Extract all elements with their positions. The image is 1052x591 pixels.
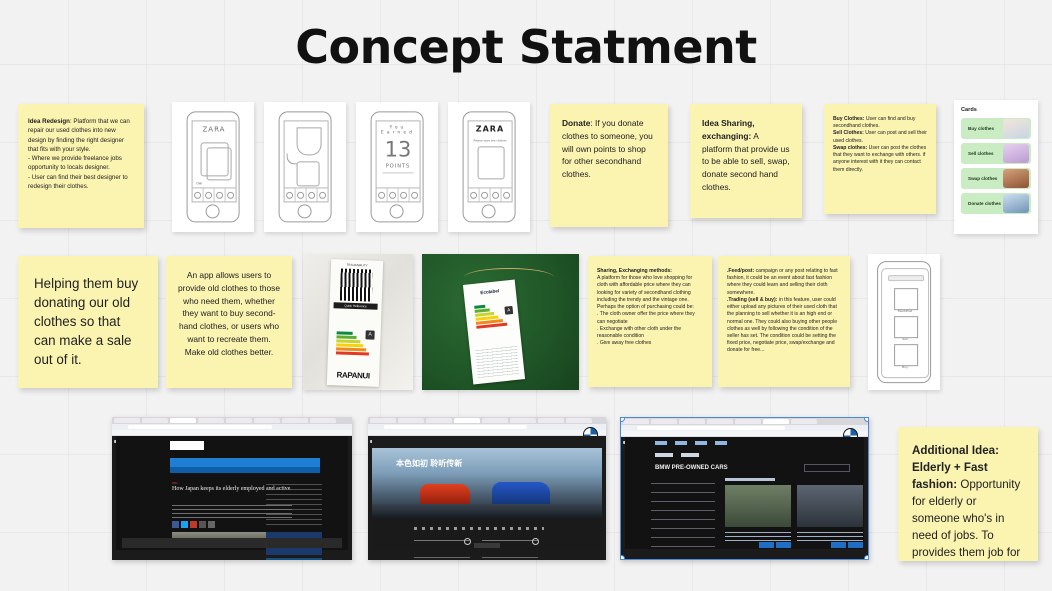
trading-bold: .Trading (sell & buy): <box>727 297 777 303</box>
browser-tab[interactable] <box>510 418 536 423</box>
note-buy-sell-swap[interactable]: Buy Clothes: User can find and buy secon… <box>824 104 936 214</box>
sketch-navbar <box>284 187 328 202</box>
car-listing-meta <box>797 529 863 541</box>
car-red <box>420 484 470 506</box>
social-share-row[interactable] <box>172 521 215 528</box>
sketch-navbar <box>376 187 420 202</box>
filter-alphabet-row[interactable] <box>414 527 544 530</box>
note-donate[interactable]: Donate: If you donate clothes to someone… <box>550 104 668 227</box>
site-subnav-bar[interactable] <box>170 467 320 473</box>
browser-tab[interactable] <box>114 418 140 423</box>
rating-grade-badge: A <box>365 330 374 339</box>
browser-tab[interactable] <box>566 418 592 423</box>
search-bar-sketch <box>888 276 925 282</box>
browser-tab[interactable] <box>707 419 733 424</box>
nav-icon-4 <box>502 188 512 202</box>
card-label: Sell clothes <box>961 151 994 156</box>
browser-tab[interactable] <box>623 419 649 424</box>
browser-tab[interactable] <box>426 418 452 423</box>
nav-icon-3 <box>490 188 501 202</box>
photo-green-tshirt-ecolabel[interactable]: Ecolabel A <box>422 254 579 390</box>
card-thumb-swap <box>1003 169 1029 188</box>
power-slider-handle[interactable] <box>532 538 539 545</box>
ecolabel-hangtag: Ecolabel A <box>463 280 525 385</box>
sketch-screen-label: ZARA <box>468 124 512 133</box>
sketch-wireframe-feed[interactable]: Feed/Post Sell Buy <box>868 254 940 390</box>
card-row-buy[interactable]: Buy clothes <box>961 118 1031 139</box>
messenger-icon[interactable] <box>208 521 215 528</box>
tag-subtitle: Quick Reference <box>334 302 378 310</box>
note-idea-redesign-bullet-1: - User can find their best designer to r… <box>28 173 134 192</box>
cards-panel[interactable]: Cards Buy clothes Sell clothes Swap clot… <box>954 100 1038 234</box>
phone-frame <box>279 111 332 222</box>
wireframe-block-sell <box>894 317 918 338</box>
screenshot-bmw-china-home[interactable]: 本色如初 聆听传新 <box>368 417 606 560</box>
note-helping-body: Helping them buy donating our old clothe… <box>34 274 142 369</box>
selection-handle-br[interactable] <box>864 555 869 560</box>
people-illustration <box>382 173 413 187</box>
car-listing-meta <box>725 529 791 541</box>
selection-handle-bl[interactable] <box>620 555 625 560</box>
tshirt-sketch <box>478 147 504 180</box>
phone-frame: ZARA Owl <box>187 111 240 222</box>
filter-panel[interactable] <box>372 518 602 550</box>
skirt-sketch <box>296 128 322 156</box>
nav-icon-1 <box>468 188 479 202</box>
site-nav[interactable] <box>655 441 735 445</box>
nav-icon-3 <box>214 188 225 202</box>
buy-clothes-bold: Buy Clothes: <box>833 116 864 122</box>
note-sharing-exchanging-methods[interactable]: Sharing, Exchanging methods: A platform … <box>588 256 712 387</box>
car-listing-card[interactable] <box>797 485 863 527</box>
sharing-methods-body: A platform for those who love shopping f… <box>597 275 703 311</box>
sketch-navbar <box>192 187 236 202</box>
browser-tab[interactable] <box>651 419 677 424</box>
sketch-sub-label: Please save the clothes <box>468 138 512 142</box>
home-button-icon <box>390 204 404 218</box>
facebook-icon[interactable] <box>172 521 179 528</box>
browser-tab[interactable] <box>735 419 761 424</box>
phone-frame: You Earned 13 POINTS <box>371 111 424 222</box>
card-row-donate[interactable]: Donate clothes <box>961 193 1031 214</box>
nav-icon-4 <box>410 188 420 202</box>
details-button[interactable] <box>848 542 863 548</box>
nav-icon-1 <box>376 188 387 202</box>
submit-button[interactable] <box>474 543 500 548</box>
wireframe-label-sell: Sell <box>882 337 928 341</box>
rating-grade-badge: A <box>504 306 513 315</box>
browser-tab-active[interactable] <box>763 419 789 424</box>
hangtag-brand: Ecolabel <box>464 287 516 297</box>
sketch-screen-label: ZARA <box>192 125 236 133</box>
tshirt-sketch <box>296 161 319 186</box>
nav-icon-4 <box>318 188 328 202</box>
home-button-icon <box>482 204 496 218</box>
points-number: 13 <box>376 137 420 161</box>
browser-tab[interactable] <box>398 418 424 423</box>
rating-a <box>337 331 353 335</box>
photo-rapanui-tag[interactable]: TRACEABILITY Quick Reference A RAPANUI <box>303 254 413 390</box>
nav-icon-1 <box>284 188 295 202</box>
nav-icon-2 <box>203 188 214 202</box>
power-slider[interactable] <box>482 540 538 541</box>
phone-screen: ZARA Please save the clothes <box>467 120 513 203</box>
browser-tab[interactable] <box>482 418 508 423</box>
browser-tab[interactable] <box>282 418 308 423</box>
nav-icon-2 <box>387 188 398 202</box>
enquire-button[interactable] <box>831 542 846 548</box>
card-row-swap[interactable]: Swap clothes <box>961 168 1031 189</box>
url-field[interactable] <box>384 425 527 429</box>
browser-tab[interactable] <box>370 418 396 423</box>
cards-panel-title: Cards <box>961 107 1031 113</box>
note-idea-redesign-bullet-0: - Where we provide freelance jobs opport… <box>28 154 134 173</box>
browser-tab[interactable] <box>679 419 705 424</box>
sketch-points-earned[interactable]: You Earned 13 POINTS <box>356 102 438 232</box>
nav-icon-1 <box>192 188 203 202</box>
browser-tab[interactable] <box>538 418 564 423</box>
swap-arrow-icon <box>287 153 298 164</box>
note-idea-sharing-bold: Idea Sharing, exchanging: <box>702 118 755 141</box>
card-label: Donate clothes <box>961 201 1001 206</box>
twitter-promo-card[interactable] <box>266 558 322 560</box>
filter-sidebar[interactable] <box>651 481 715 547</box>
browser-tab[interactable] <box>142 418 168 423</box>
nav-icon-3 <box>306 188 317 202</box>
sort-select[interactable] <box>804 464 850 472</box>
sketch-sub-label: Owl <box>192 182 240 186</box>
note-donate-bold: Donate <box>562 118 590 128</box>
url-field[interactable] <box>128 425 272 429</box>
nav-icon-3 <box>398 188 409 202</box>
clothing-tag: TRACEABILITY Quick Reference A RAPANUI <box>327 259 383 387</box>
browser-tabs[interactable] <box>370 418 592 423</box>
details-button[interactable] <box>776 542 791 548</box>
site-header-nav[interactable] <box>372 436 602 448</box>
article-sidebar-meta <box>266 481 322 525</box>
swap-clothes-bold: Swap clothes: <box>833 145 867 151</box>
page-title: Concept Statment <box>0 20 1052 74</box>
cookie-banner[interactable] <box>122 538 342 548</box>
tshirt-sketch-back <box>207 148 232 181</box>
sell-clothes-bold: Sell Clothes: <box>833 130 864 136</box>
email-icon[interactable] <box>190 521 197 528</box>
tag-brand: RAPANUI <box>327 370 379 381</box>
hangtag-fineprint <box>475 346 520 378</box>
article-page: BBC How Japan keeps its elderly employed… <box>116 436 348 550</box>
selection-handle-tr[interactable] <box>864 417 869 422</box>
browser-tab[interactable] <box>310 418 336 423</box>
sketch-screen-label: You Earned <box>376 125 420 135</box>
wireframe-block-feed <box>894 289 918 310</box>
browser-tab[interactable] <box>254 418 280 423</box>
note-feed-post-trading[interactable]: .Feed/post: campaign or any post relatin… <box>718 256 850 387</box>
nav-icon-2 <box>295 188 306 202</box>
wireframe-label-feed: Feed/Post <box>882 309 928 313</box>
sketch-navbar <box>468 187 512 202</box>
browser-tabs[interactable] <box>623 419 817 424</box>
car-listing-card[interactable] <box>725 485 791 527</box>
hero-headline: 本色如初 聆听传新 <box>396 458 462 469</box>
browser-tab-active[interactable] <box>170 418 196 423</box>
phone-frame: Feed/Post Sell Buy <box>877 261 931 383</box>
site-nav-bar[interactable] <box>170 458 320 467</box>
note-idea-redesign[interactable]: Idea Redesign: Platform that we can repa… <box>18 104 144 228</box>
sketch-skirt-swap[interactable] <box>264 102 346 232</box>
sketch-zara-detail[interactable]: ZARA Please save the clothes <box>448 102 530 232</box>
sharing-methods-bullet-2: . Give away free clothes <box>597 340 703 347</box>
listing-title: BMW PRE-OWNED CARS <box>655 465 728 471</box>
whatsapp-icon[interactable] <box>199 521 206 528</box>
price-slider[interactable] <box>414 540 470 541</box>
card-thumb-buy <box>1003 119 1029 138</box>
screenshot-bbc-japan-elderly[interactable]: BBC How Japan keeps its elderly employed… <box>112 417 352 560</box>
card-row-sell[interactable]: Sell clothes <box>961 143 1031 164</box>
nav-icon-4 <box>226 188 236 202</box>
sharing-methods-bullet-1: . Exchange with other cloth under the re… <box>597 326 703 340</box>
trading-text: in this feature, user could either uploa… <box>727 297 837 354</box>
price-slider-handle[interactable] <box>464 538 471 545</box>
wireframe-block-buy <box>894 345 918 366</box>
browser-tab-active[interactable] <box>454 418 480 423</box>
qr-code-icon <box>340 268 373 301</box>
note-additional-idea[interactable]: Additional Idea: Elderly + Fast fashion:… <box>898 427 1038 561</box>
sharing-methods-bold: Sharing, Exchanging methods: <box>597 268 672 274</box>
body-type-select[interactable] <box>414 552 470 558</box>
bmw-home-page: 本色如初 聆听传新 <box>372 436 602 550</box>
wireframe-label-buy: Buy <box>882 365 928 369</box>
card-label: Swap clothes <box>961 176 997 181</box>
sketch-zara-product[interactable]: ZARA Owl <box>172 102 254 232</box>
phone-inner-frame: Feed/Post Sell Buy <box>881 268 929 378</box>
listing-tabs[interactable] <box>655 453 707 457</box>
article-kicker: BBC <box>172 481 178 485</box>
note-helping-them-buy[interactable]: Helping them buy donating our old clothe… <box>18 256 158 388</box>
home-button-icon <box>206 204 220 218</box>
phone-screen <box>283 120 329 203</box>
browser-tabs[interactable] <box>114 418 336 423</box>
browser-tab[interactable] <box>791 419 817 424</box>
note-idea-redesign-bold: Idea Redesign <box>28 118 70 125</box>
note-app-allows-body: An app allows users to provide old cloth… <box>178 269 280 358</box>
slide-canvas: Concept Statment Idea Redesign: Platform… <box>0 0 1052 591</box>
tag-caption: TRACEABILITY <box>331 262 383 268</box>
note-app-allows[interactable]: An app allows users to provide old cloth… <box>166 256 292 388</box>
enquire-button[interactable] <box>759 542 774 548</box>
phone-screen: ZARA Owl <box>191 120 237 203</box>
browser-tab[interactable] <box>226 418 252 423</box>
rating-f <box>336 351 369 355</box>
note-idea-sharing[interactable]: Idea Sharing, exchanging: A platform tha… <box>690 104 802 218</box>
nav-icon-2 <box>479 188 490 202</box>
home-button-icon <box>298 204 312 218</box>
road <box>372 504 602 518</box>
sharing-methods-bullet-0: . The cloth owner offer the price where … <box>597 311 703 325</box>
url-field[interactable] <box>637 426 785 430</box>
card-thumb-donate <box>1003 194 1029 213</box>
card-thumb-sell <box>1003 144 1029 163</box>
twitter-icon[interactable] <box>181 521 188 528</box>
hero-banner: 本色如初 聆听传新 <box>372 448 602 518</box>
phone-screen: You Earned 13 POINTS <box>375 120 421 203</box>
sketch-sub-label: POINTS <box>376 163 420 169</box>
feed-post-bold: .Feed/post: <box>727 268 754 274</box>
browser-tab[interactable] <box>198 418 224 423</box>
card-label: Buy clothes <box>961 126 994 131</box>
phone-frame: ZARA Please save the clothes <box>463 111 516 222</box>
screenshot-bmw-pre-owned-cars[interactable]: BMW PRE-OWNED CARS <box>620 417 869 560</box>
fuel-type-select[interactable] <box>482 552 538 558</box>
bmw-listing-page: BMW PRE-OWNED CARS <box>625 437 864 549</box>
site-logo <box>170 441 204 450</box>
results-heading <box>725 478 775 481</box>
